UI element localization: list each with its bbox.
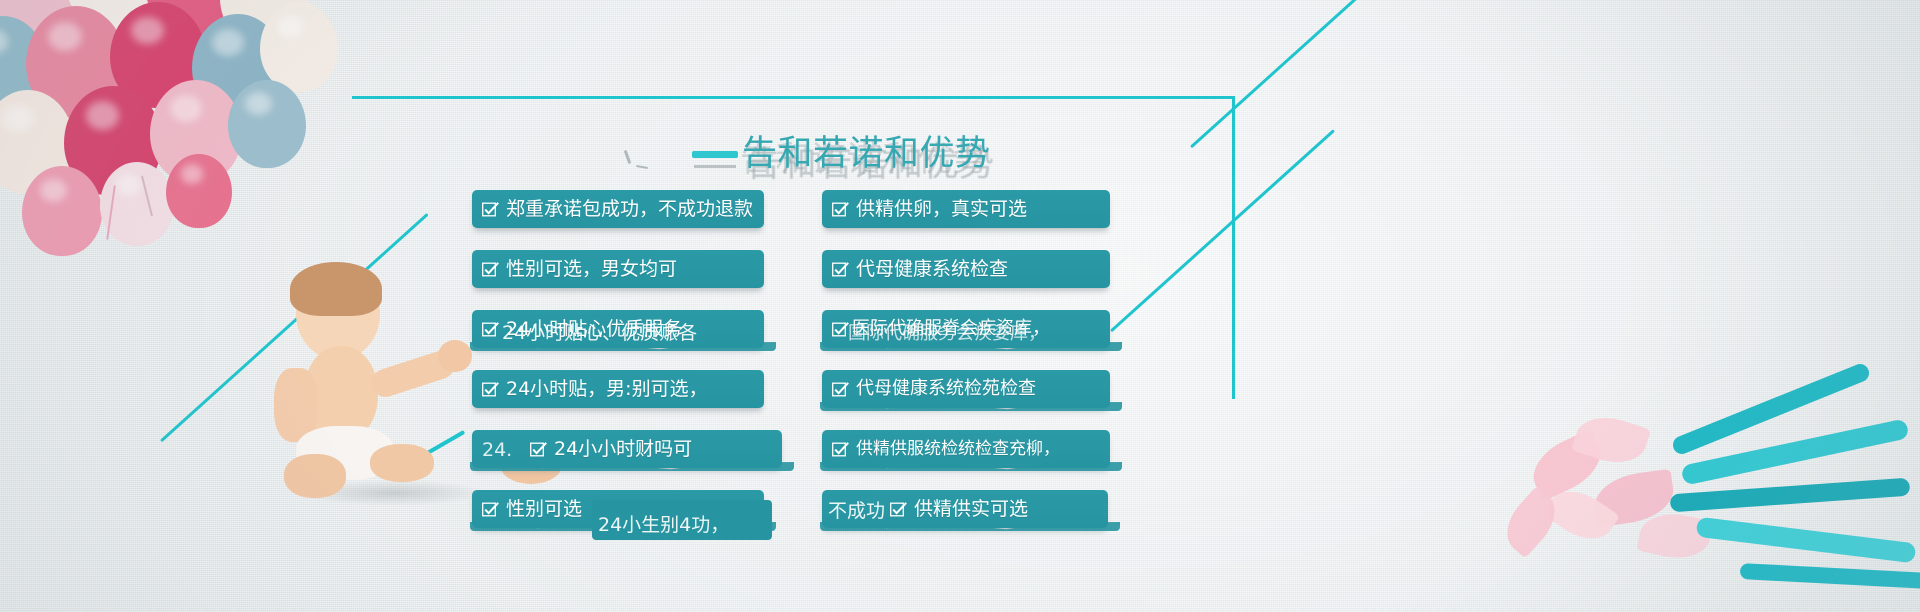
diagonal-line-decoration	[1190, 0, 1363, 148]
stray-mark	[624, 150, 632, 164]
section-title: 告和诺诺和优势 告和若诺和优势 告和若诺和优势	[692, 132, 742, 176]
checkbox-check-icon	[482, 322, 499, 337]
benefit-label-glitch: 24.	[482, 431, 512, 469]
checkbox-check-icon	[832, 382, 849, 397]
benefit-pill[interactable]: 代母健康系统检查	[822, 250, 1110, 288]
benefit-pill[interactable]: 医际代确服脊会疾资库， 国际代确服务会疾姿库，	[822, 310, 1110, 348]
checkbox-check-icon	[832, 442, 849, 457]
benefit-pill[interactable]: 供精供服统检统检查充柳，	[822, 430, 1110, 468]
page-title: 告和若诺和优势	[742, 132, 991, 176]
benefit-pill[interactable]: 郑重承诺包成功，不成功退款	[472, 190, 764, 228]
benefit-label: 供精供服统检统检查充柳，	[856, 430, 1060, 468]
benefit-pill[interactable]: 代母健康系统检苑检查	[822, 370, 1110, 408]
checkbox-check-icon	[832, 202, 849, 217]
benefit-label: 24小小时财吗可	[554, 430, 692, 468]
benefit-label: 代母健康系统检苑检查	[856, 370, 1036, 408]
benefit-pill[interactable]: 性别可选，男女均可	[472, 250, 764, 288]
benefit-pill[interactable]: 供精供卵，真实可选	[822, 190, 1110, 228]
benefit-pill[interactable]: 不成功 供精供实可选	[822, 490, 1108, 528]
benefit-label: 24小时贴心优质服务	[506, 310, 682, 348]
benefit-pill[interactable]: 24小时贴，男:别可选，	[472, 370, 764, 408]
pill-bleed	[592, 500, 772, 540]
title-dash-icon	[692, 151, 738, 158]
diagonal-line-decoration	[1110, 129, 1335, 332]
checkbox-check-icon	[890, 502, 907, 517]
benefit-label: 24小时贴，男:别可选，	[506, 370, 708, 408]
balloon-cluster-decoration	[0, 0, 380, 260]
checkbox-check-icon	[832, 262, 849, 277]
benefit-label: 供精供卵，真实可选	[856, 190, 1027, 228]
benefit-label: 代母健康系统检查	[856, 250, 1008, 288]
baby-photo-decoration	[278, 268, 488, 504]
benefit-label: 性别可选	[506, 490, 582, 528]
flower-ribbon-decoration	[1490, 382, 1920, 612]
checkbox-check-icon	[482, 502, 499, 517]
benefit-pill[interactable]: 性别可选 24小生别4功，	[472, 490, 764, 528]
benefits-column-right: 供精供卵，真实可选 代母健康系统检查 医际代确服脊会疾资库， 国际代确服务会疾姿…	[822, 190, 1090, 528]
checkbox-check-icon	[482, 262, 499, 277]
checkbox-check-icon	[482, 202, 499, 217]
checkbox-check-icon	[832, 322, 849, 337]
checkbox-check-icon	[530, 442, 547, 457]
benefits-column-left: 郑重承诺包成功，不成功退款 性别可选，男女均可 24小时贴心优质服务 24小时贴…	[472, 190, 744, 528]
promo-banner: 告和诺诺和优势 告和若诺和优势 告和若诺和优势 郑重承诺包成功，不成功退款 性别…	[0, 0, 1920, 612]
benefit-label: 供精供实可选	[914, 490, 1028, 528]
benefit-label: 性别可选，男女均可	[506, 250, 677, 288]
benefit-label: 郑重承诺包成功，不成功退款	[506, 190, 753, 228]
benefit-pill[interactable]: 24. 24小小时财吗可	[472, 430, 782, 468]
benefit-label-glitch: 不成功	[828, 490, 885, 528]
stray-mark	[636, 165, 648, 169]
checkbox-check-icon	[482, 382, 499, 397]
benefit-pill[interactable]: 24小时贴心优质服务 24小时贴心、优质赈各	[472, 310, 764, 348]
benefit-label: 医际代确服脊会疾资库，	[852, 310, 1050, 348]
